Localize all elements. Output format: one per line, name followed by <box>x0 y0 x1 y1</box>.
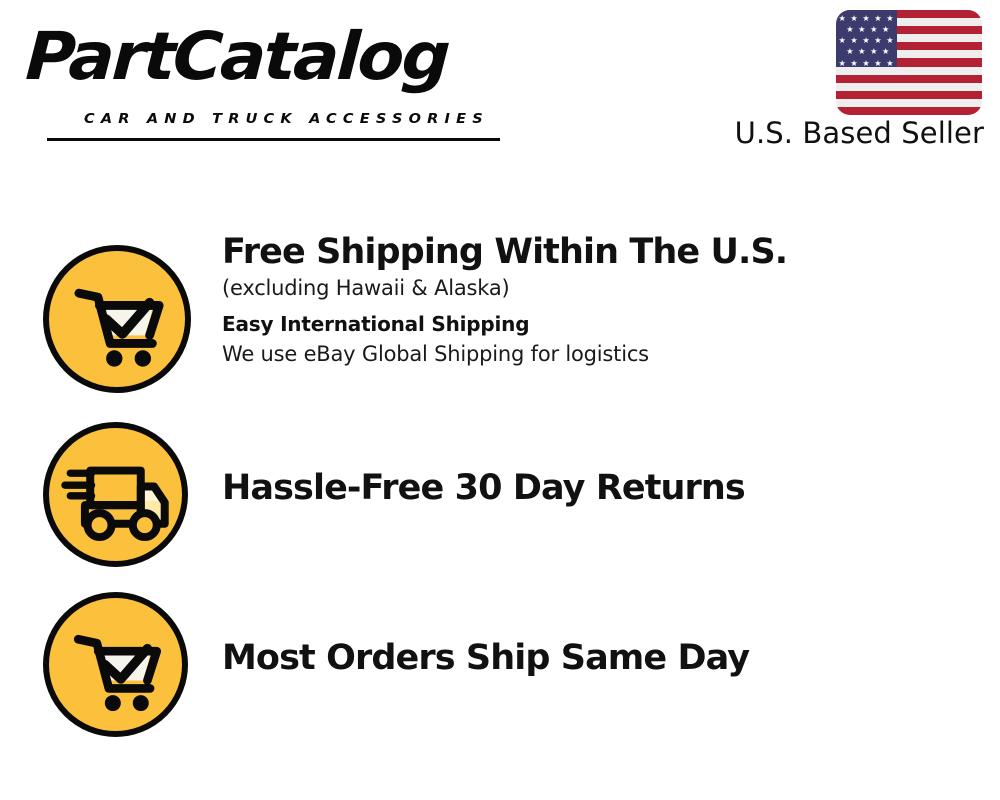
us-flag-icon: ★ ★ ★ ★ ★ ★ ★ ★ ★ ★ ★ ★ ★ ★ ★ ★ ★ ★ ★ ★ … <box>836 10 982 115</box>
shopping-cart-check-icon <box>43 592 188 737</box>
header-banner: PartCatalog CAR AND TRUCK ACCESSORIES ★ … <box>0 0 1000 170</box>
feature-text-same-day: Most Orders Ship Same Day <box>222 638 982 679</box>
fast-delivery-truck-icon <box>43 422 188 567</box>
feature-secondary-title: Easy International Shipping <box>222 309 982 339</box>
feature-subtitle: (excluding Hawaii & Alaska) <box>222 273 982 303</box>
brand-tagline: CAR AND TRUCK ACCESSORIES <box>84 112 489 127</box>
feature-text-returns: Hassle-Free 30 Day Returns <box>222 468 982 509</box>
us-based-seller-badge: ★ ★ ★ ★ ★ ★ ★ ★ ★ ★ ★ ★ ★ ★ ★ ★ ★ ★ ★ ★ … <box>836 10 982 115</box>
feature-secondary-subtitle: We use eBay Global Shipping for logistic… <box>222 339 982 369</box>
feature-title: Free Shipping Within The U.S. <box>222 232 982 273</box>
brand-logo[interactable]: PartCatalog CAR AND TRUCK ACCESSORIES <box>22 24 492 120</box>
feature-text-free-shipping: Free Shipping Within The U.S. (excluding… <box>222 232 982 369</box>
brand-wordmark: PartCatalog <box>24 24 449 90</box>
brand-underline-rule <box>47 138 500 141</box>
shopping-cart-check-icon <box>43 245 191 393</box>
flag-stars: ★ ★ ★ ★ ★ ★ ★ ★ ★ ★ ★ ★ ★ ★ ★ ★ ★ ★ ★ ★ … <box>836 10 897 67</box>
us-based-seller-label: U.S. Based Seller <box>735 116 984 150</box>
feature-title: Most Orders Ship Same Day <box>222 638 982 679</box>
feature-title: Hassle-Free 30 Day Returns <box>222 468 982 509</box>
